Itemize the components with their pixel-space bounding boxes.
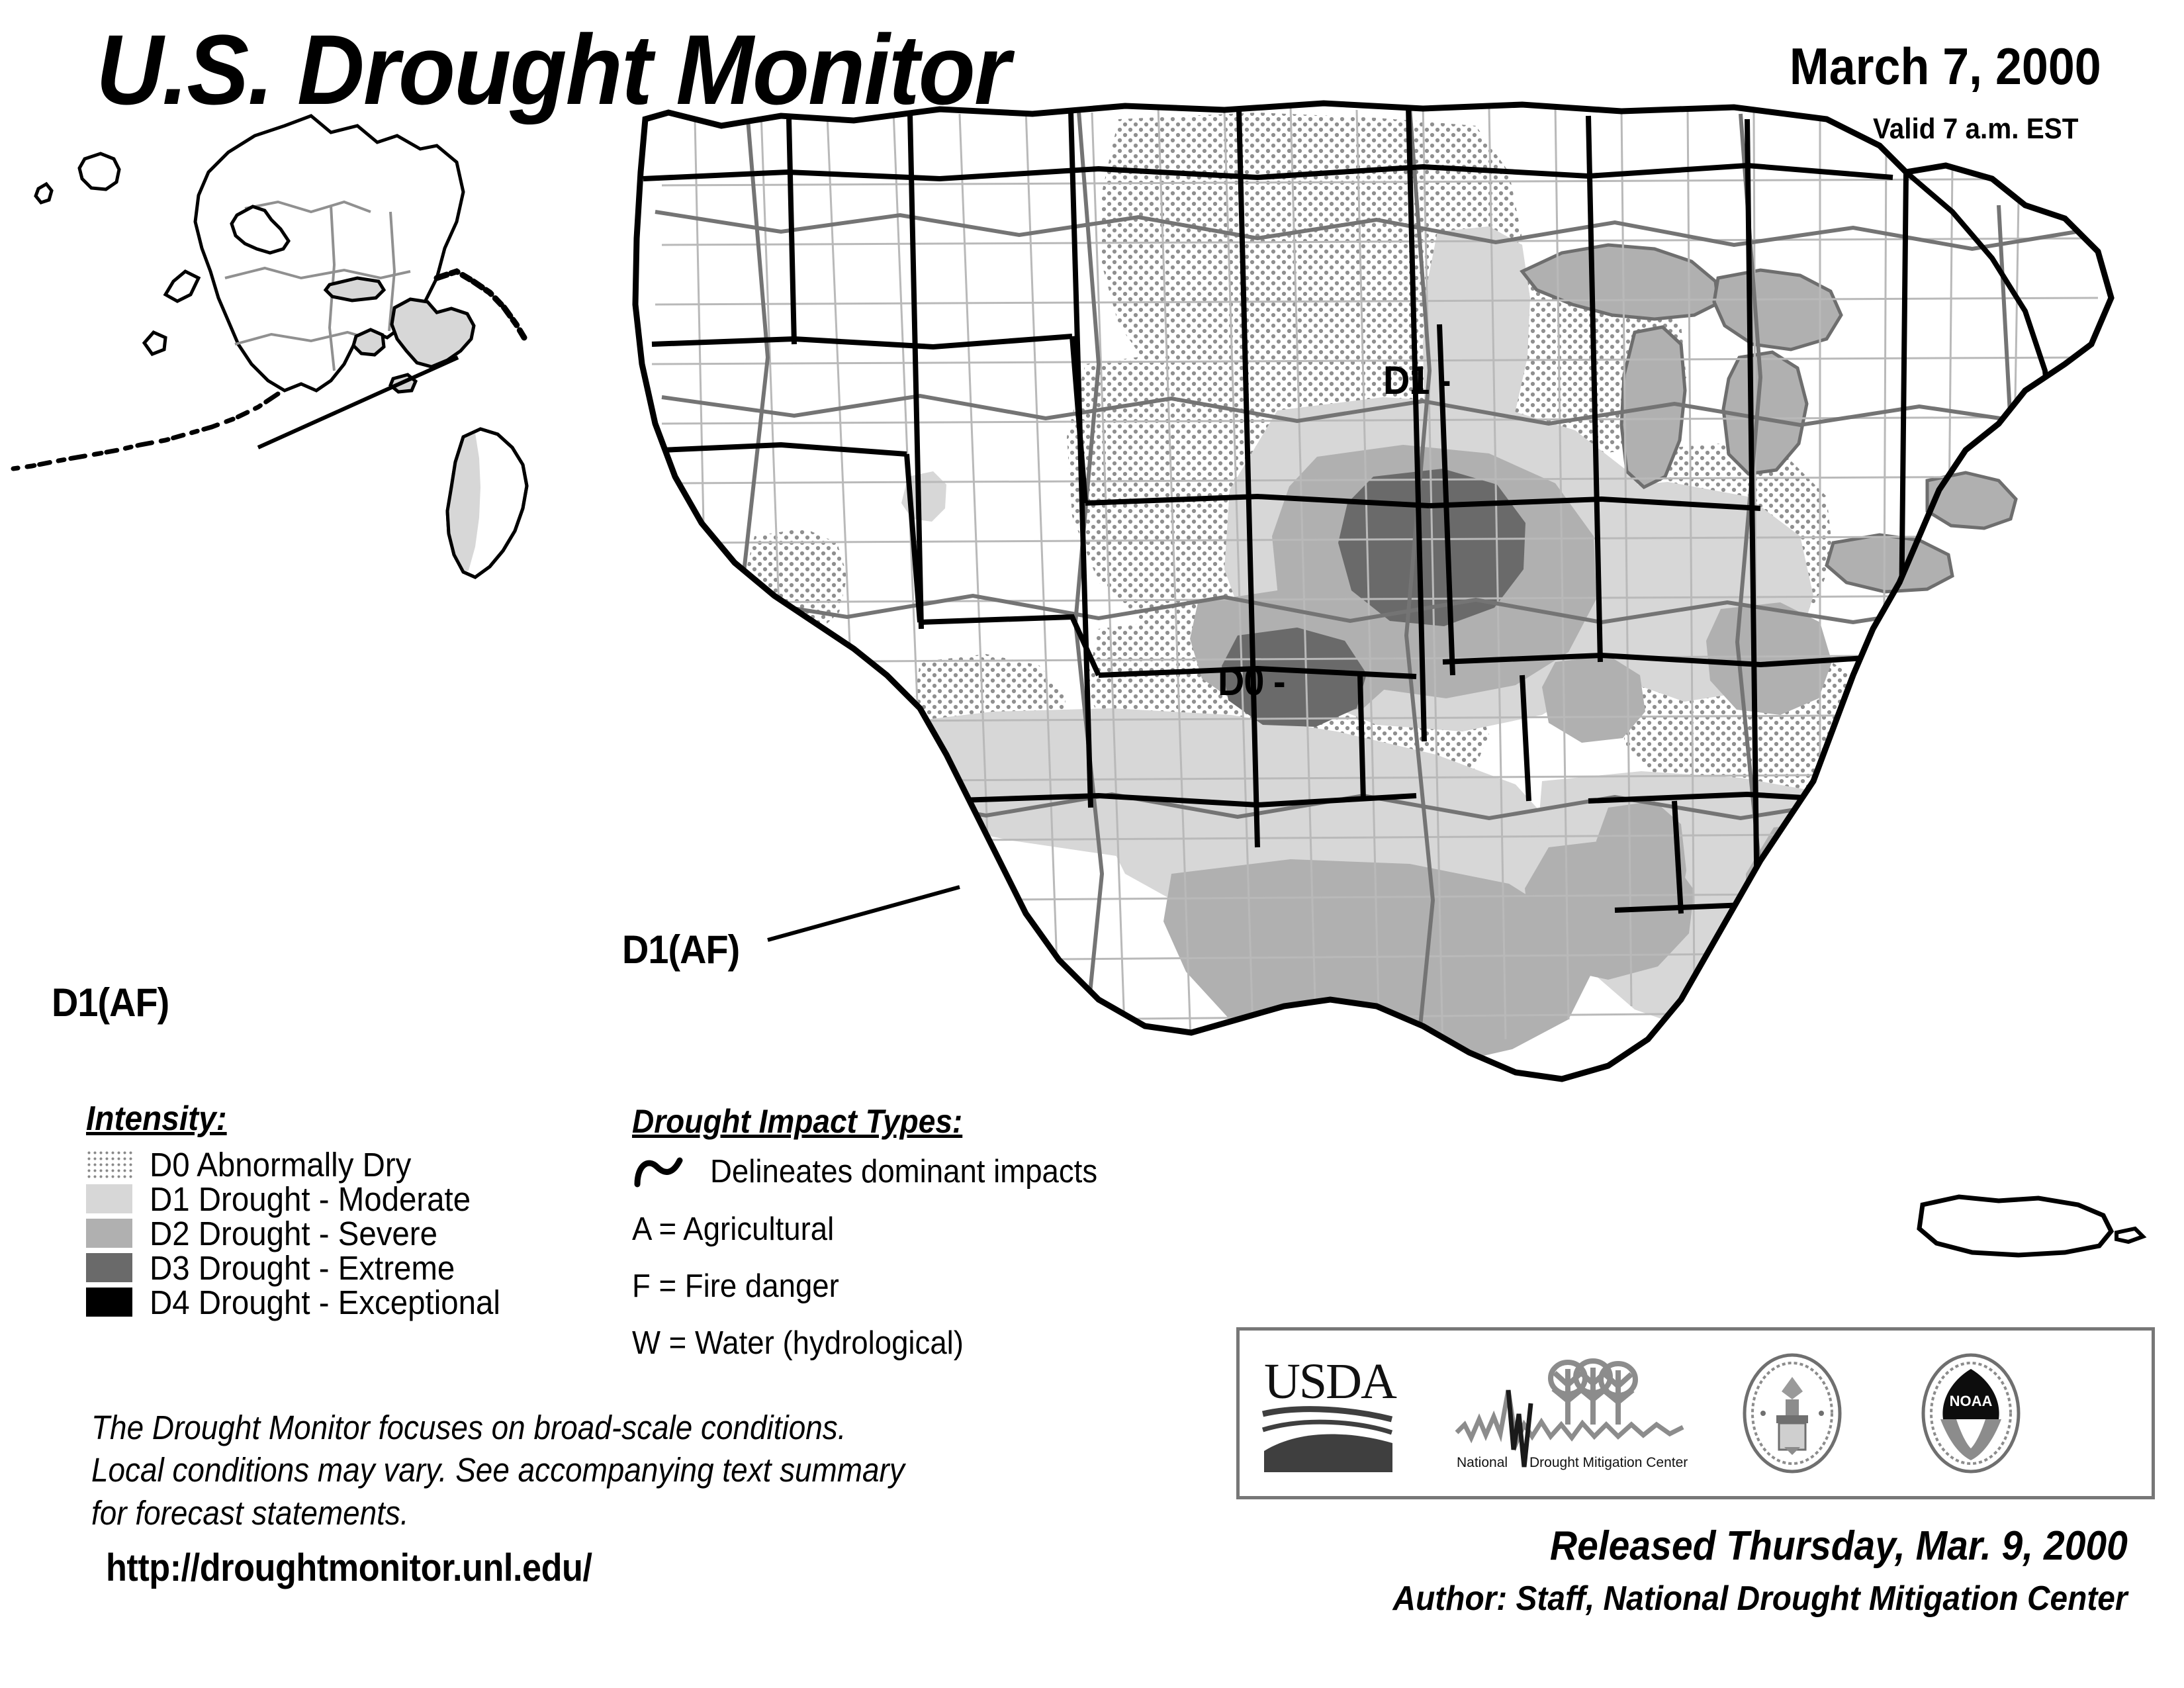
svg-text:National: National <box>1457 1455 1508 1470</box>
legend-row-d3[interactable]: D3 Drought - Extreme <box>86 1251 527 1284</box>
legend-label-d2: D2 Drought - Severe <box>150 1214 437 1253</box>
squiggle-icon <box>632 1152 693 1191</box>
sponsor-logo-box: USDA National Drought Mitigation Center <box>1236 1327 2155 1499</box>
swatch-d1 <box>86 1184 132 1213</box>
swatch-d3 <box>86 1253 132 1282</box>
legend-label-d3: D3 Drought - Extreme <box>150 1248 455 1288</box>
impact-type-fire: F = Fire danger <box>632 1268 1092 1305</box>
impact-types-legend: Drought Impact Types: Delineates dominan… <box>632 1102 1126 1362</box>
impact-type-agricultural: A = Agricultural <box>632 1211 1092 1248</box>
release-date: Released Thursday, Mar. 9, 2000 <box>1550 1523 2128 1570</box>
disclaimer-line-3: for forecast statements. <box>91 1492 905 1534</box>
svg-text:NOAA: NOAA <box>1950 1393 1993 1409</box>
intensity-legend-header: Intensity: <box>86 1099 227 1139</box>
legend-row-d0[interactable]: D0 Abnormally Dry <box>86 1148 527 1181</box>
svg-text:USDA: USDA <box>1264 1354 1397 1409</box>
svg-text:Drought Mitigation Center: Drought Mitigation Center <box>1529 1455 1688 1470</box>
usda-logo: USDA <box>1240 1347 1438 1479</box>
swatch-d2 <box>86 1219 132 1248</box>
swatch-d4 <box>86 1288 132 1317</box>
disclaimer-line-1: The Drought Monitor focuses on broad-sca… <box>91 1407 905 1449</box>
ndmc-logo: National Drought Mitigation Center <box>1438 1347 1703 1479</box>
swatch-d0 <box>86 1150 132 1179</box>
intensity-legend: Intensity: D0 Abnormally Dry D1 Drought … <box>86 1099 527 1320</box>
map-label-d1-northern-plains: D1 - <box>1383 357 1451 403</box>
southwest-leader-line <box>761 880 1079 1013</box>
author-credit: Author: Staff, National Drought Mitigati… <box>1393 1579 2128 1618</box>
doc-seal <box>1703 1347 1882 1479</box>
legend-label-d4: D4 Drought - Exceptional <box>150 1283 500 1322</box>
disclaimer-text: The Drought Monitor focuses on broad-sca… <box>91 1407 905 1534</box>
puerto-rico-inset <box>1919 1197 2143 1255</box>
map-label-d1af-hawaii: D1(AF) <box>52 980 169 1025</box>
disclaimer-line-2: Local conditions may vary. See accompany… <box>91 1449 905 1491</box>
map-label-d1af-southwest: D1(AF) <box>622 927 739 972</box>
legend-row-d2[interactable]: D2 Drought - Severe <box>86 1217 527 1250</box>
impact-legend-header: Drought Impact Types: <box>632 1102 962 1141</box>
legend-row-d4[interactable]: D4 Drought - Exceptional <box>86 1286 527 1319</box>
noaa-seal: NOAA <box>1882 1347 2060 1479</box>
website-url[interactable]: http://droughtmonitor.unl.edu/ <box>106 1546 592 1590</box>
map-label-d0-central-plains: D0 - <box>1218 659 1285 704</box>
legend-label-d1: D1 Drought - Moderate <box>150 1180 471 1219</box>
legend-row-d1[interactable]: D1 Drought - Moderate <box>86 1182 527 1215</box>
delineates-row: Delineates dominant impacts <box>632 1152 1126 1191</box>
impact-type-water: W = Water (hydrological) <box>632 1325 1092 1362</box>
delineates-label: Delineates dominant impacts <box>710 1153 1097 1190</box>
legend-label-d0: D0 Abnormally Dry <box>150 1145 411 1184</box>
